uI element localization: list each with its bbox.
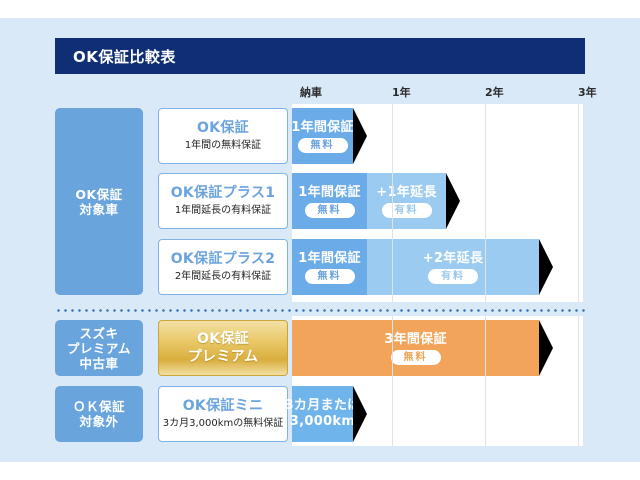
plan-card-title: OK保証 [197, 120, 249, 137]
plan-card[interactable]: OK保証プラス22年間延長の有料保証 [158, 239, 288, 295]
category-label: OK保証対象車 [55, 108, 143, 295]
timeline-gridline-1-1 [485, 316, 486, 446]
plan-card-subtitle: 1年間の無料保証 [185, 139, 261, 152]
coverage-price-badge: 無料 [305, 269, 355, 284]
plan-card[interactable]: OK保証ミニ3カ月3,000kmの無料保証 [158, 386, 288, 442]
coverage-bar: 3カ月または3,000km [292, 386, 353, 442]
coverage-bar-arrowhead [539, 320, 553, 376]
timeline-axis: 納車1年2年3年 [55, 84, 585, 102]
coverage-bar-label: 1年間保証 [298, 251, 361, 267]
timeline-label-1: 1年 [392, 84, 411, 100]
coverage-bar-arrowhead [446, 173, 460, 229]
timeline-gridline-2-0 [578, 104, 579, 302]
coverage-bar-label: 1年間保証 [291, 120, 354, 136]
plan-card-title: OK保証プラス2 [171, 251, 276, 268]
category-label-text: ＯＫ保証対象外 [73, 399, 125, 429]
coverage-bar-label: 3カ月または3,000km [285, 398, 361, 430]
coverage-bar-arrowhead [353, 108, 367, 164]
coverage-bar: 3年間保証無料 [292, 320, 539, 376]
coverage-bar: 1年間保証無料 [292, 239, 367, 295]
coverage-price-badge: 有料 [382, 203, 432, 218]
coverage-price-badge: 有料 [428, 269, 478, 284]
guarantee-comparison-chart: OK保証比較表 納車1年2年3年 OK保証1年間の無料保証1年間保証無料OK保証… [0, 0, 640, 480]
plan-card-subtitle: 1年間延長の有料保証 [175, 204, 271, 217]
timeline-gridline-2-1 [578, 316, 579, 446]
category-label: スズキプレミアム中古車 [55, 320, 143, 376]
coverage-bar: +1年延長有料 [367, 173, 446, 229]
coverage-bar-label: 1年間保証 [298, 185, 361, 201]
coverage-bar-label: +2年延長 [423, 251, 483, 267]
coverage-price-badge: 無料 [298, 138, 348, 153]
coverage-bar: 1年間保証無料 [292, 108, 353, 164]
coverage-bar-label: +1年延長 [376, 185, 436, 201]
section-divider [55, 309, 585, 312]
plan-card-subtitle: 2年間延長の有料保証 [175, 270, 271, 283]
category-label-text: スズキプレミアム中古車 [67, 326, 131, 371]
plan-card[interactable]: OK保証1年間の無料保証 [158, 108, 288, 164]
timeline-gridline-0-1 [392, 316, 393, 446]
plan-card[interactable]: OK保証プラス11年間延長の有料保証 [158, 173, 288, 229]
title-bar: OK保証比較表 [55, 38, 585, 74]
plan-card-title: OK保証プラス1 [171, 185, 276, 202]
timeline-label-0: 納車 [300, 84, 322, 100]
page-title: OK保証比較表 [73, 46, 176, 67]
plan-card-title: OK保証ミニ [183, 398, 264, 415]
timeline-label-2: 2年 [485, 84, 504, 100]
plan-card-subtitle: 3カ月3,000kmの無料保証 [163, 417, 284, 430]
timeline-gridline-1-0 [485, 104, 486, 302]
category-label: ＯＫ保証対象外 [55, 386, 143, 442]
category-label-text: OK保証対象車 [75, 187, 122, 217]
coverage-bar: 1年間保証無料 [292, 173, 367, 229]
timeline-gridline-0-0 [392, 104, 393, 302]
timeline-label-3: 3年 [578, 84, 597, 100]
coverage-price-badge: 無料 [305, 203, 355, 218]
coverage-price-badge: 無料 [391, 350, 441, 365]
plan-card[interactable]: OK保証プレミアム [158, 320, 288, 376]
coverage-bar-label: 3年間保証 [384, 332, 447, 348]
plan-card-title: OK保証プレミアム [188, 330, 259, 366]
coverage-bar-arrowhead [353, 386, 367, 442]
coverage-bar-arrowhead [539, 239, 553, 295]
